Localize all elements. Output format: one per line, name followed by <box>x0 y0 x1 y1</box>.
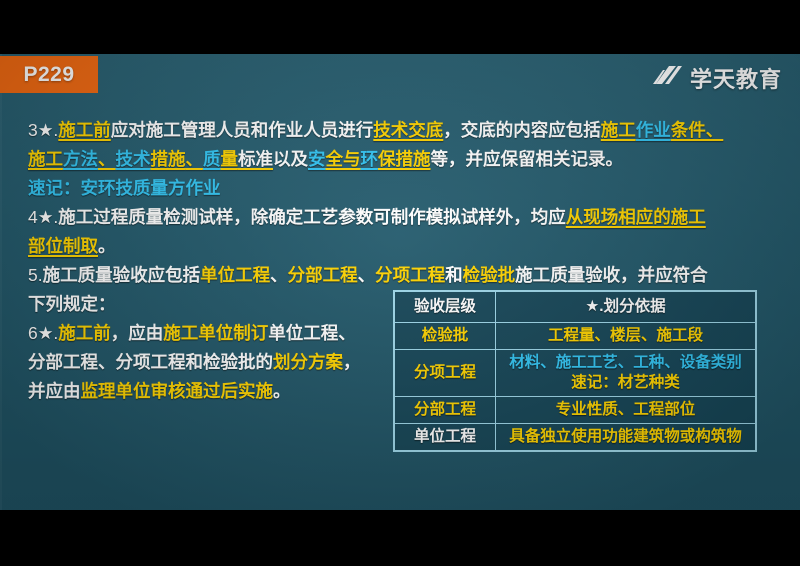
item-3-seg4: ，交底的内容应包括 <box>443 120 601 140</box>
item-6-seg8: 并应由 <box>28 381 81 401</box>
item-5-seg8: 检验批 <box>463 265 516 285</box>
paragraph-item-5: 5.施工质量验收应包括单位工程、分部工程、分项工程和检验批施工质量验收，并应符合 <box>28 261 776 290</box>
table-cell-level-1: 分项工程 <box>395 350 496 397</box>
table-header-basis: ★.划分依据 <box>496 292 756 323</box>
item-6-seg6: 划分方案 <box>273 352 343 372</box>
item-4-seg3: 部位制取 <box>28 236 98 256</box>
item-3-seg1: 施工前 <box>58 120 111 140</box>
item-4-seg2: 从现场相应的施工 <box>566 207 706 227</box>
item-4-seg1: 施工过程质量检测试样，除确定工艺参数可制作模拟试样外，均应 <box>58 207 566 227</box>
brand-logo: 学天教育 <box>653 62 782 94</box>
item-6-seg9: 监理单位审核通过后实施 <box>81 381 274 401</box>
item-3-seg19: 全与 <box>326 149 361 169</box>
item-6-seg4: 单位工程、 <box>268 323 356 343</box>
table-cell-basis-2: 专业性质、工程部位 <box>496 397 756 424</box>
brand-stripes-icon <box>653 65 683 92</box>
item-3-seg9: 方法 <box>63 149 98 169</box>
item-5-seg10: 下列规定： <box>28 294 116 314</box>
brand-name: 学天教育 <box>690 62 782 94</box>
paragraph-mnemonic-1: 速记：安环技质量方作业 <box>28 174 776 203</box>
item-6-seg5: 分部工程、分项工程和检验批的 <box>28 352 273 372</box>
paragraph-item-3: 3★.施工前应对施工管理人员和作业人员进行技术交底，交底的内容应包括施工作业条件… <box>28 116 776 145</box>
item-3-seg2: 应对施工管理人员和作业人员进行 <box>111 120 374 140</box>
paragraph-item-4: 4★.施工过程质量检测试样，除确定工艺参数可制作模拟试样外，均应从现场相应的施工 <box>28 203 776 232</box>
table-cell-basis-1-mnemonic: 速记：材艺种类 <box>498 373 753 393</box>
item-6-seg1: 施工前 <box>58 323 111 343</box>
item-3-seg20: 环 <box>361 149 379 169</box>
item-3-seg6: 作业 <box>636 120 671 140</box>
item-5-seg4: 分部工程 <box>288 265 358 285</box>
item-4-seg4: 。 <box>98 236 116 256</box>
paragraph-item-3-cont: 施工方法、技术措施、质量标准以及安全与环保措施等，并应保留相关记录。 <box>28 145 776 174</box>
table-cell-level-3: 单位工程 <box>395 424 496 451</box>
table-header-row: 验收层级 ★.划分依据 <box>395 292 756 323</box>
table-cell-basis-3: 具备独立使用功能建筑物或构筑物 <box>496 424 756 451</box>
table-cell-level-0: 检验批 <box>395 323 496 350</box>
item-5-seg2: 单位工程 <box>200 265 270 285</box>
item-5-seg5: 、 <box>358 265 376 285</box>
item-3-seg15: 量 <box>221 149 239 169</box>
item-5-seg6: 分项工程 <box>375 265 445 285</box>
item-3-seg7: 条件、 <box>671 120 724 140</box>
table-row: 分项工程 材料、施工工艺、工种、设备类别 速记：材艺种类 <box>395 350 756 397</box>
table-cell-basis-1: 材料、施工工艺、工种、设备类别 速记：材艺种类 <box>496 350 756 397</box>
table-cell-basis-0: 工程量、楼层、施工段 <box>496 323 756 350</box>
item-3-number: 3★. <box>28 120 58 140</box>
table-cell-level-2: 分部工程 <box>395 397 496 424</box>
item-3-seg5: 施工 <box>601 120 636 140</box>
mnemonic-1-text: 速记：安环技质量方作业 <box>28 178 221 198</box>
slide-canvas: P229 学天教育 3★.施工前应对施工管理人员和作业人员进行技术交底，交底的内… <box>0 54 800 510</box>
page-number-badge: P229 <box>0 56 98 93</box>
item-3-seg3: 技术交底 <box>373 120 443 140</box>
item-3-seg11: 技术 <box>116 149 151 169</box>
acceptance-level-table: 验收层级 ★.划分依据 检验批 工程量、楼层、施工段 分项工程 材料、施工工艺、… <box>393 290 757 452</box>
item-4-number: 4★. <box>28 207 58 227</box>
item-6-seg3: 施工单位制订 <box>163 323 268 343</box>
item-5-seg9: 施工质量验收，并应符合 <box>515 265 708 285</box>
item-3-seg21: 保措施 <box>378 149 431 169</box>
item-5-number: 5. <box>28 265 43 285</box>
item-5-seg3: 、 <box>270 265 288 285</box>
item-3-seg13: 、 <box>186 149 204 169</box>
table-row: 分部工程 专业性质、工程部位 <box>395 397 756 424</box>
item-3-seg18: 安 <box>308 149 326 169</box>
table-header-level: 验收层级 <box>395 292 496 323</box>
item-5-seg7: 和 <box>445 265 463 285</box>
item-6-seg7: ， <box>343 352 361 372</box>
item-3-seg10: 、 <box>98 149 116 169</box>
table-row: 单位工程 具备独立使用功能建筑物或构筑物 <box>395 424 756 451</box>
video-player-frame: P229 学天教育 3★.施工前应对施工管理人员和作业人员进行技术交底，交底的内… <box>0 0 800 566</box>
item-3-seg8: 施工 <box>28 149 63 169</box>
item-3-seg14: 质 <box>203 149 221 169</box>
item-5-seg1: 施工质量验收应包括 <box>43 265 201 285</box>
item-3-seg17: 以及 <box>273 149 308 169</box>
item-3-seg12: 措施 <box>151 149 186 169</box>
table-row: 检验批 工程量、楼层、施工段 <box>395 323 756 350</box>
table-cell-basis-1-line1: 材料、施工工艺、工种、设备类别 <box>498 353 753 373</box>
item-6-seg2: ，应由 <box>111 323 164 343</box>
item-6-seg10: 。 <box>273 381 291 401</box>
item-3-seg16: 标准 <box>238 149 273 169</box>
item-6-number: 6★. <box>28 323 58 343</box>
item-3-seg22: 等，并应保留相关记录。 <box>431 149 624 169</box>
paragraph-item-4-cont: 部位制取。 <box>28 232 776 261</box>
page-number-label: P229 <box>23 63 74 87</box>
